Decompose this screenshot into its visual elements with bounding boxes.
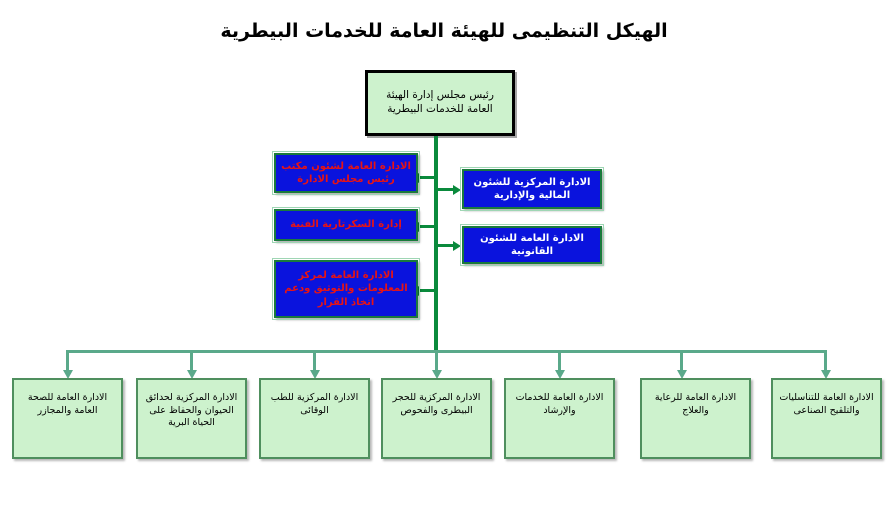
arrowhead-staff-right-2 <box>453 241 461 251</box>
connector-drop-6 <box>680 350 683 372</box>
node-dept-1[interactable]: الادارة العامة للصحة العامة والمجازر <box>12 378 123 459</box>
node-staff-right-2-label: الادارة العامة للشئون القانونية <box>464 232 600 258</box>
node-dept-3-label: الادارة المركزية للطب الوقائى <box>261 380 368 417</box>
node-staff-right-2[interactable]: الادارة العامة للشئون القانونية <box>462 226 602 264</box>
node-dept-5-label: الادارة العامة للخدمات والإرشاد <box>506 380 613 417</box>
connector-drop-3 <box>313 350 316 372</box>
node-dept-6-label: الادارة العامة للرعاية والعلاج <box>642 380 749 417</box>
node-staff-right-1-label: الادارة المركزية للشئون المالية والإداري… <box>464 176 600 202</box>
connector-staff-left-2 <box>418 225 435 228</box>
node-dept-5[interactable]: الادارة العامة للخدمات والإرشاد <box>504 378 615 459</box>
node-staff-left-3[interactable]: الادارة العامة لمركز المعلومات والتوثيق … <box>274 260 418 318</box>
node-dept-7[interactable]: الادارة العامة للتناسليات والتلقيح الصنا… <box>771 378 882 459</box>
arrowhead-staff-right-1 <box>453 185 461 195</box>
node-staff-left-2-label: إدارة السكرتارية الفنية <box>276 218 416 231</box>
node-staff-left-2[interactable]: إدارة السكرتارية الفنية <box>274 209 418 241</box>
node-dept-4-label: الادارة المركزية للحجر البيطرى والفحوص <box>383 380 490 417</box>
connector-bottom-bus <box>67 350 827 353</box>
node-staff-left-3-label: الادارة العامة لمركز المعلومات والتوثيق … <box>276 269 416 309</box>
connector-drop-7 <box>824 350 827 372</box>
node-dept-3[interactable]: الادارة المركزية للطب الوقائى <box>259 378 370 459</box>
connector-staff-left-3 <box>418 289 435 292</box>
connector-drop-2 <box>190 350 193 372</box>
connector-staff-right-1 <box>437 188 454 191</box>
connector-drop-1 <box>66 350 69 372</box>
node-dept-1-label: الادارة العامة للصحة العامة والمجازر <box>14 380 121 417</box>
connector-drop-4 <box>435 350 438 372</box>
node-chairman[interactable]: رئيس مجلس إدارة الهيئة العامة للخدمات ال… <box>365 70 515 136</box>
node-dept-2-label: الادارة المركزية لحدائق الحيوان والحفاظ … <box>138 380 245 430</box>
node-staff-left-1-label: الادارة العامة لشئون مكتب رئيس مجلس الاد… <box>276 160 416 186</box>
node-dept-2[interactable]: الادارة المركزية لحدائق الحيوان والحفاظ … <box>136 378 247 459</box>
node-staff-left-1[interactable]: الادارة العامة لشئون مكتب رئيس مجلس الاد… <box>274 153 418 193</box>
node-chairman-label: رئيس مجلس إدارة الهيئة العامة للخدمات ال… <box>368 89 512 117</box>
connector-drop-5 <box>558 350 561 372</box>
node-dept-7-label: الادارة العامة للتناسليات والتلقيح الصنا… <box>773 380 880 417</box>
connector-staff-right-2 <box>437 244 454 247</box>
node-dept-4[interactable]: الادارة المركزية للحجر البيطرى والفحوص <box>381 378 492 459</box>
page-title: الهيكل التنظيمى للهيئة العامة للخدمات ال… <box>0 20 888 42</box>
organization-chart: الهيكل التنظيمى للهيئة العامة للخدمات ال… <box>0 0 888 522</box>
node-staff-right-1[interactable]: الادارة المركزية للشئون المالية والإداري… <box>462 169 602 209</box>
connector-staff-left-1 <box>418 176 435 179</box>
node-dept-6[interactable]: الادارة العامة للرعاية والعلاج <box>640 378 751 459</box>
